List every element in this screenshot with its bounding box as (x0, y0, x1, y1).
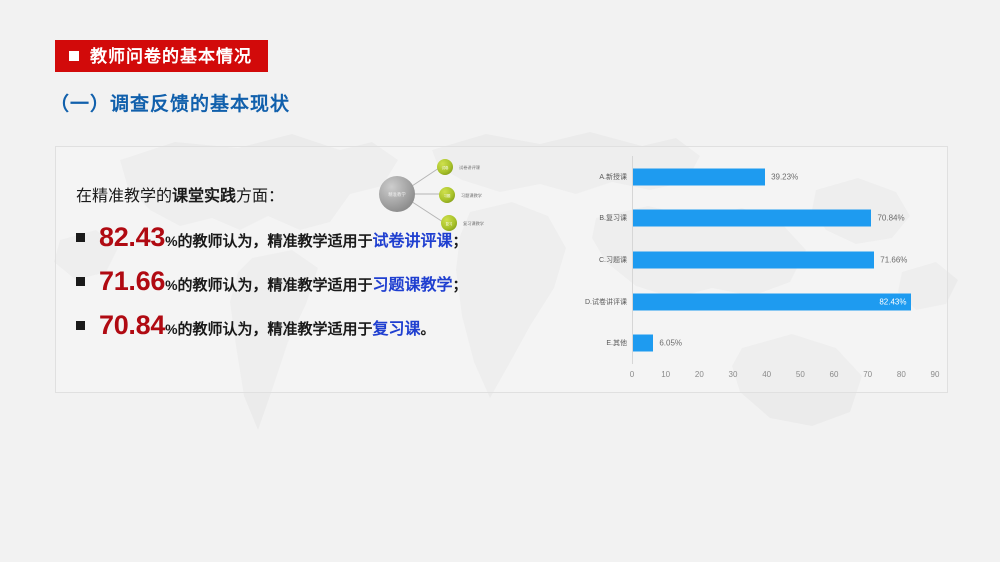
banner-square-icon (69, 51, 79, 61)
bullet-body: 的教师认为，精准教学适用于 (178, 230, 373, 251)
bullet-body: 的教师认为，精准教学适用于 (178, 274, 373, 295)
chart-x-tick-label: 50 (796, 370, 805, 379)
bullet-tail: ； (453, 275, 467, 295)
chart-bar (633, 293, 911, 310)
chart-bar (633, 252, 874, 269)
section-banner: 教师问卷的基本情况 (55, 40, 268, 72)
branch-label-1: 试卷讲评课 (459, 164, 481, 171)
bullet-percent: % (165, 277, 177, 293)
banner-title: 教师问卷的基本情况 (90, 48, 252, 65)
branch-label-2: 习题课教学 (461, 192, 482, 199)
bullet-number: 70.84 (99, 310, 165, 341)
bullet-tail: 。 (421, 319, 435, 339)
branch-node-1-label: 试卷 (442, 165, 449, 170)
chart-x-tick-label: 0 (630, 370, 634, 379)
bullet-percent: % (165, 233, 177, 249)
lead-suffix: 方面： (236, 188, 284, 205)
chart-bar (633, 168, 765, 185)
chart-bar (633, 210, 871, 227)
bullet-list: 82.43%的教师认为，精准教学适用于试卷讲评课； 71.66%的教师认为，精准… (76, 222, 546, 354)
chart-category-label: C.习题课 (599, 255, 627, 265)
chart-bar (633, 335, 653, 352)
lead-sentence: 在精准教学的课堂实践方面： (76, 182, 284, 206)
bar-chart: A.新授课39.23%B.复习课70.84%C.习题课71.66%D.试卷讲评课… (575, 152, 940, 390)
list-item: 70.84%的教师认为，精准教学适用于复习课。 (76, 310, 546, 354)
branch-node-3-label: 复习 (446, 221, 453, 226)
list-item: 71.66%的教师认为，精准教学适用于习题课教学； (76, 266, 546, 310)
bullet-keyword: 复习课 (373, 315, 421, 339)
chart-x-tick-label: 30 (729, 370, 738, 379)
chart-value-label: 39.23% (771, 172, 798, 181)
node-diagram: 精准教学 试卷 试卷讲评课 习题 习题课教学 复习 复习课教学 (355, 156, 515, 236)
chart-value-label: 71.66% (880, 256, 907, 265)
chart-x-axis: 0102030405060708090 (632, 370, 936, 384)
chart-x-tick-label: 60 (830, 370, 839, 379)
chart-value-label: 82.43% (879, 297, 906, 306)
chart-plot-area: A.新授课39.23%B.复习课70.84%C.习题课71.66%D.试卷讲评课… (632, 156, 936, 364)
section-subtitle: （一）调查反馈的基本现状 (50, 89, 290, 116)
bullet-number: 82.43 (99, 222, 165, 253)
bullet-keyword: 习题课教学 (373, 271, 453, 295)
bullet-percent: % (165, 321, 177, 337)
chart-value-label: 6.05% (659, 339, 682, 348)
bullet-body: 的教师认为，精准教学适用于 (178, 318, 373, 339)
chart-x-tick-label: 70 (863, 370, 872, 379)
chart-category-label: B.复习课 (599, 213, 627, 223)
bullet-number: 71.66 (99, 266, 165, 297)
chart-x-tick-label: 80 (897, 370, 906, 379)
chart-category-label: D.试卷讲评课 (585, 297, 627, 307)
bullet-square-icon (76, 277, 85, 286)
chart-category-label: E.其他 (606, 338, 627, 348)
chart-x-tick-label: 10 (661, 370, 670, 379)
branch-label-3: 复习课教学 (463, 220, 484, 227)
lead-prefix: 在精准教学的 (76, 188, 172, 205)
chart-x-tick-label: 20 (695, 370, 704, 379)
chart-x-tick-label: 90 (931, 370, 940, 379)
lead-emphasis: 课堂实践 (172, 188, 236, 205)
branch-node-2-label: 习题 (444, 193, 451, 198)
chart-x-tick-label: 40 (762, 370, 771, 379)
chart-value-label: 70.84% (877, 214, 904, 223)
bullet-square-icon (76, 321, 85, 330)
hub-label: 精准教学 (388, 191, 406, 198)
chart-category-label: A.新授课 (599, 172, 627, 182)
bullet-square-icon (76, 233, 85, 242)
